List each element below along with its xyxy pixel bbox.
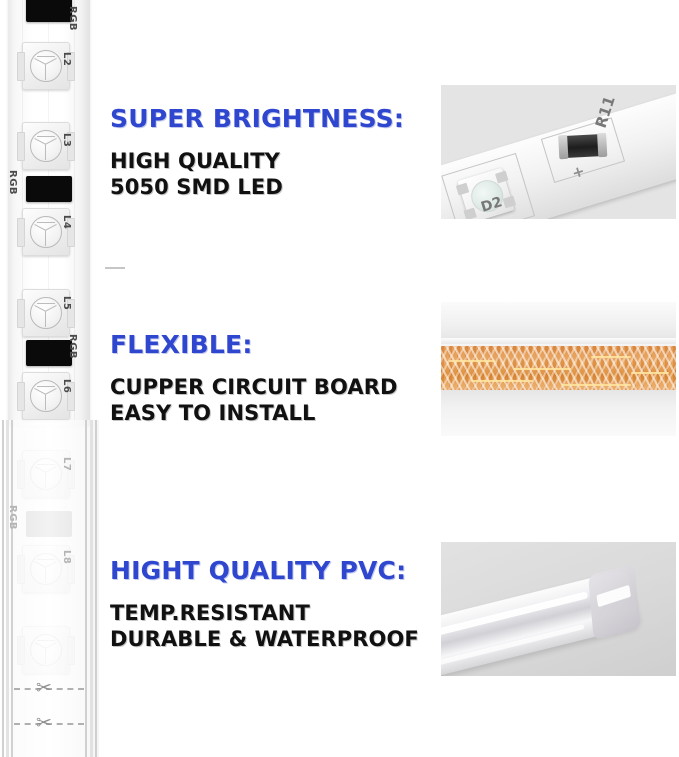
component-label-rgb: RGB — [7, 505, 18, 530]
component-label-rgb: RGB — [7, 170, 18, 195]
feature-line-2: 5050 SMD LED — [110, 175, 404, 201]
led-chip-closeup-photo: R11 D2 + — [441, 85, 676, 219]
feature-line-2: DURABLE & WATERPROOF — [110, 627, 419, 653]
pcb-strip-macro — [441, 85, 676, 219]
led-chip-extra — [22, 626, 70, 674]
component-label-l7: L7 — [61, 457, 72, 471]
feature-block-brightness: SUPER BRIGHTNESS: HIGH QUALITY 5050 SMD … — [110, 104, 404, 200]
sleeve-rib — [95, 420, 97, 757]
component-label-l6: L6 — [61, 379, 72, 393]
led-lens — [30, 130, 62, 162]
component-label-l8: L8 — [61, 550, 72, 564]
section-divider-mark — [105, 267, 125, 269]
component-label-l5: L5 — [61, 296, 72, 310]
feature-block-flexible: FLEXIBLE: CUPPER CIRCUIT BOARD EASY TO I… — [110, 330, 398, 426]
led-strip-diagram: RGB L2 L3 RGB L4 L5 RGB L6 L7 RGB L8 ✂ ✂ — [0, 0, 100, 757]
feature-headline: SUPER BRIGHTNESS: — [110, 104, 404, 133]
rgb-resistor-block — [26, 0, 72, 22]
sleeve-rib — [6, 420, 9, 757]
feature-line-1: TEMP.RESISTANT — [110, 601, 419, 627]
led-lens — [30, 458, 62, 490]
feature-block-pvc: HIGHT QUALITY PVC: TEMP.RESISTANT DURABL… — [110, 556, 419, 652]
feature-headline: FLEXIBLE: — [110, 330, 398, 359]
feature-line-1: HIGH QUALITY — [110, 149, 404, 175]
component-label-l2: L2 — [61, 52, 72, 66]
feature-line-1: CUPPER CIRCUIT BOARD — [110, 375, 398, 401]
scissors-icon: ✂ — [36, 713, 52, 735]
led-lens — [30, 297, 62, 329]
rgb-resistor-block — [26, 511, 72, 537]
feature-headline: HIGHT QUALITY PVC: — [110, 556, 419, 585]
cut-marker: ✂ — [14, 678, 84, 700]
cut-marker: ✂ — [14, 713, 84, 735]
component-label-rgb: RGB — [67, 6, 78, 31]
rgb-resistor-block — [26, 340, 72, 366]
component-label-l3: L3 — [61, 133, 72, 147]
copper-braid-photo — [441, 302, 676, 436]
led-lens — [30, 634, 62, 666]
smd-resistor — [562, 134, 603, 158]
sleeve-rib — [90, 420, 93, 757]
tube-inner-channel — [596, 585, 631, 607]
pvc-sleeve-photo — [441, 542, 676, 676]
led-lens — [30, 553, 62, 585]
led-lens — [30, 380, 62, 412]
component-label-rgb: RGB — [67, 334, 78, 359]
tube-cut-end — [588, 564, 640, 640]
rgb-resistor-block — [26, 176, 72, 202]
pvc-tube-lower-wall — [441, 390, 676, 436]
sleeve-rib — [11, 420, 13, 757]
component-label-l4: L4 — [61, 215, 72, 229]
tube-sheen — [441, 338, 676, 346]
sleeve-rib — [85, 420, 87, 757]
sleeve-rib — [2, 420, 4, 757]
led-lens — [30, 50, 62, 82]
led-lens — [30, 216, 62, 248]
feature-line-2: EASY TO INSTALL — [110, 401, 398, 427]
scissors-icon: ✂ — [36, 678, 52, 700]
